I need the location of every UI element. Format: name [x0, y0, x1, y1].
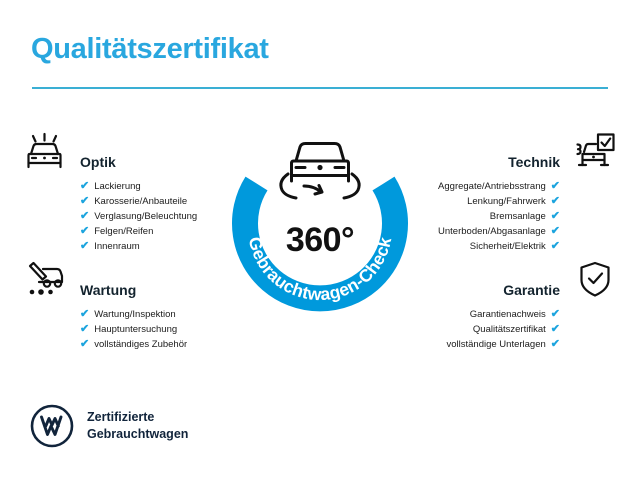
section-technik: Technik — [398, 130, 616, 270]
title-divider — [32, 87, 608, 89]
check-icon: ✔ — [80, 196, 89, 207]
check-icon: ✔ — [551, 241, 560, 252]
list-item-label: Unterboden/Abgasanlage — [438, 227, 546, 237]
list-item: ✔Wartung/Inspektion — [80, 307, 242, 322]
list-item-label: vollständige Unterlagen — [446, 340, 545, 350]
section-header-wartung: Wartung — [24, 258, 242, 300]
badge-360-gebrauchtwagen-check: Gebrauchtwagen-Check 360° — [226, 124, 414, 316]
list-item: ✔Karosserie/Anbauteile — [80, 194, 242, 209]
shield-check-icon — [574, 260, 616, 300]
car-shine-icon — [24, 132, 66, 172]
check-icon: ✔ — [80, 339, 89, 350]
list-item-label: Lenkung/Fahrwerk — [467, 197, 546, 207]
list-item-label: Qualitätszertifikat — [473, 325, 546, 335]
check-icon: ✔ — [80, 324, 89, 335]
check-icon: ✔ — [551, 309, 560, 320]
list-item-label: Innenraum — [94, 242, 139, 252]
section-title-wrap-wartung: Wartung — [66, 282, 242, 300]
list-item-label: Garantienachweis — [470, 310, 546, 320]
list-item-label: Bremsanlage — [490, 212, 546, 222]
section-title-wrap-garantie: Garantie — [398, 282, 574, 300]
list-item: ✔Verglasung/Beleuchtung — [80, 209, 242, 224]
list-item: Lenkung/Fahrwerk✔ — [398, 194, 560, 209]
list-item: vollständige Unterlagen✔ — [398, 337, 560, 352]
check-icon: ✔ — [551, 211, 560, 222]
section-title-garantie: Garantie — [503, 282, 560, 298]
car-lift-checkbox-icon — [574, 132, 616, 172]
list-item-label: Hauptuntersuchung — [94, 325, 177, 335]
section-list-wartung: ✔Wartung/Inspektion ✔Hauptuntersuchung ✔… — [24, 307, 242, 352]
car-service-tool-icon — [24, 260, 66, 300]
check-icon: ✔ — [551, 226, 560, 237]
section-list-optik: ✔Lackierung ✔Karosserie/Anbauteile ✔Verg… — [24, 179, 242, 254]
check-icon: ✔ — [551, 181, 560, 192]
footer-line-1: Zertifizierte — [87, 409, 188, 426]
list-item: ✔Innenraum — [80, 239, 242, 254]
list-item: Garantienachweis✔ — [398, 307, 560, 322]
list-item: Sicherheit/Elektrik✔ — [398, 239, 560, 254]
section-title-wartung: Wartung — [80, 282, 136, 298]
section-list-technik: Aggregate/Antriebsstrang✔ Lenkung/Fahrwe… — [398, 179, 616, 254]
list-item-label: Sicherheit/Elektrik — [470, 242, 546, 252]
page-title: Qualitätszertifikat — [31, 34, 269, 66]
certificate-page: Qualitätszertifikat — [0, 0, 640, 480]
check-icon: ✔ — [80, 211, 89, 222]
list-item-label: Felgen/Reifen — [94, 227, 153, 237]
list-item-label: vollständiges Zubehör — [94, 340, 187, 350]
section-title-wrap-optik: Optik — [66, 154, 242, 172]
section-title-technik: Technik — [508, 154, 560, 170]
list-item: Qualitätszertifikat✔ — [398, 322, 560, 337]
section-title-optik: Optik — [80, 154, 116, 170]
list-item: ✔Hauptuntersuchung — [80, 322, 242, 337]
section-list-garantie: Garantienachweis✔ Qualitätszertifikat✔ v… — [398, 307, 616, 352]
list-item-label: Aggregate/Antriebsstrang — [438, 182, 546, 192]
list-item: Aggregate/Antriebsstrang✔ — [398, 179, 560, 194]
footer-line-2: Gebrauchtwagen — [87, 426, 188, 443]
section-optik: Optik ✔Lackierung ✔Karosserie/Anbauteile… — [24, 130, 242, 270]
footer-text: Zertifizierte Gebrauchtwagen — [87, 409, 188, 443]
list-item: ✔Lackierung — [80, 179, 242, 194]
list-item: Unterboden/Abgasanlage✔ — [398, 224, 560, 239]
section-header-technik: Technik — [398, 130, 616, 172]
list-item-label: Karosserie/Anbauteile — [94, 197, 187, 207]
check-icon: ✔ — [80, 226, 89, 237]
section-header-optik: Optik — [24, 130, 242, 172]
list-item: ✔Felgen/Reifen — [80, 224, 242, 239]
check-icon: ✔ — [80, 241, 89, 252]
section-garantie: Garantie Garantienachweis✔ Qualitätszert… — [398, 258, 616, 368]
check-icon: ✔ — [551, 196, 560, 207]
list-item: Bremsanlage✔ — [398, 209, 560, 224]
footer-brand: Zertifizierte Gebrauchtwagen — [30, 404, 188, 448]
section-wartung: Wartung ✔Wartung/Inspektion ✔Hauptunters… — [24, 258, 242, 368]
check-icon: ✔ — [551, 339, 560, 350]
section-header-garantie: Garantie — [398, 258, 616, 300]
check-icon: ✔ — [80, 309, 89, 320]
list-item-label: Wartung/Inspektion — [94, 310, 176, 320]
car-rotation-icon — [281, 144, 359, 199]
list-item: ✔vollständiges Zubehör — [80, 337, 242, 352]
section-title-wrap-technik: Technik — [398, 154, 574, 172]
list-item-label: Verglasung/Beleuchtung — [94, 212, 197, 222]
vw-logo — [30, 404, 74, 448]
check-icon: ✔ — [551, 324, 560, 335]
list-item-label: Lackierung — [94, 182, 140, 192]
check-icon: ✔ — [80, 181, 89, 192]
